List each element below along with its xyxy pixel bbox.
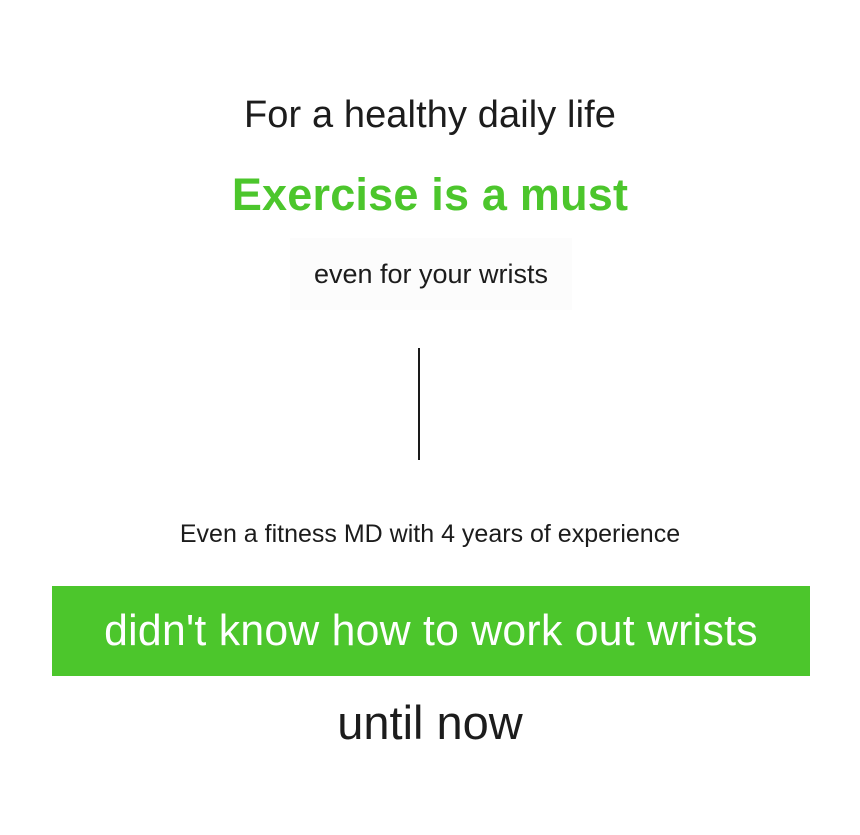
body-line: Even a fitness MD with 4 years of experi…: [0, 518, 860, 550]
highlight-banner-text: didn't know how to work out wrists: [104, 604, 758, 658]
vertical-divider-icon: [418, 348, 420, 460]
promo-slide: For a healthy daily life Exercise is a m…: [0, 0, 860, 835]
headline-accent: Exercise is a must: [0, 167, 860, 223]
highlight-banner: didn't know how to work out wrists: [52, 586, 810, 676]
closing-line: until now: [0, 694, 860, 752]
subhead-panel: even for your wrists: [290, 238, 572, 310]
subhead-text: even for your wrists: [314, 257, 548, 291]
headline-primary: For a healthy daily life: [0, 92, 860, 138]
